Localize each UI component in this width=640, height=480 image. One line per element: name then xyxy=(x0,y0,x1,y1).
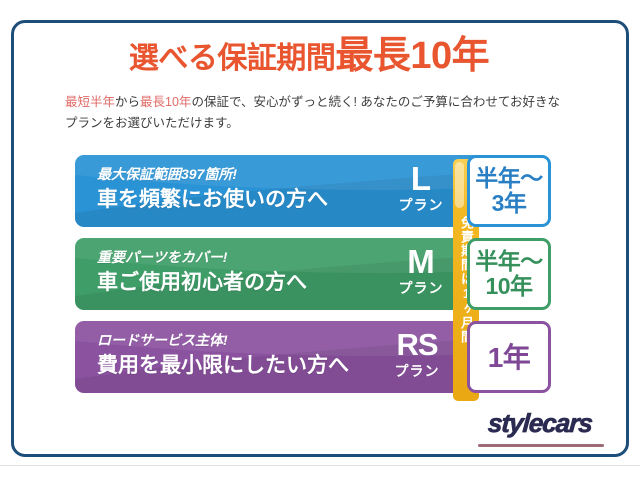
term-badge-l-lines: 半年〜 3年 xyxy=(475,166,543,216)
term-badge-m: 半年〜 10年 xyxy=(467,238,551,310)
brand-logo: stylecars xyxy=(470,408,610,454)
subtitle-highlight-min: 最短半年 xyxy=(65,95,115,109)
page-divider xyxy=(0,465,640,466)
plan-tagline-m: 重要パーツをカバー! xyxy=(97,246,307,268)
brand-logo-text: stylecars xyxy=(469,408,611,439)
plan-letter-rs: RS xyxy=(371,328,463,362)
plan-copy-m: 重要パーツをカバー! 車ご使用初心者の方へ xyxy=(97,246,307,298)
term-badge-m-line2: 10年 xyxy=(475,274,543,299)
page-title: 選べる保証期間最長10年 xyxy=(0,33,618,77)
plan-audience-l: 車を頻繁にお使いの方へ xyxy=(97,185,328,215)
subtitle-highlight-max: 最長10年 xyxy=(140,95,191,109)
headline-part-1: 選べる保証期間 xyxy=(129,42,336,75)
plan-copy-l: 最大保証範囲397箇所! 車を頻繁にお使いの方へ xyxy=(97,163,328,215)
brand-logo-underline xyxy=(478,444,604,447)
term-badge-l-line2: 3年 xyxy=(475,191,543,216)
plan-audience-m: 車ご使用初心者の方へ xyxy=(97,268,307,298)
term-badge-rs: 1年 xyxy=(467,321,551,393)
band-gloss-highlight xyxy=(455,162,464,208)
plan-word-rs: プラン xyxy=(371,362,463,380)
term-badge-rs-line1: 1年 xyxy=(488,345,531,370)
term-badge-m-lines: 半年〜 10年 xyxy=(475,249,543,299)
plan-copy-rs: ロードサービス主体! 費用を最小限にしたい方へ xyxy=(97,329,349,381)
plan-tagline-l: 最大保証範囲397箇所! xyxy=(97,163,328,185)
plan-mark-rs: RS プラン xyxy=(371,328,463,380)
headline-part-2: 最長10年 xyxy=(335,35,489,77)
subtitle-connector: から xyxy=(115,95,140,109)
plan-tagline-rs: ロードサービス主体! xyxy=(97,329,349,351)
warranty-plan-banner: 選べる保証期間最長10年 最短半年から最長10年の保証で、安心がずっと続く! あ… xyxy=(0,0,640,480)
term-badge-m-line1: 半年〜 xyxy=(475,249,543,274)
term-badge-l: 半年〜 3年 xyxy=(467,155,551,227)
term-badge-l-line1: 半年〜 xyxy=(475,166,543,191)
term-badge-rs-lines: 1年 xyxy=(488,345,531,370)
plan-list: 最大保証範囲397箇所! 車を頻繁にお使いの方へ L プラン 重要パーツをカバー… xyxy=(75,155,555,405)
plan-audience-rs: 費用を最小限にしたい方へ xyxy=(97,351,349,381)
subtitle-text: 最短半年から最長10年の保証で、安心がずっと続く! あなたのご予算に合わせてお好… xyxy=(65,92,565,134)
